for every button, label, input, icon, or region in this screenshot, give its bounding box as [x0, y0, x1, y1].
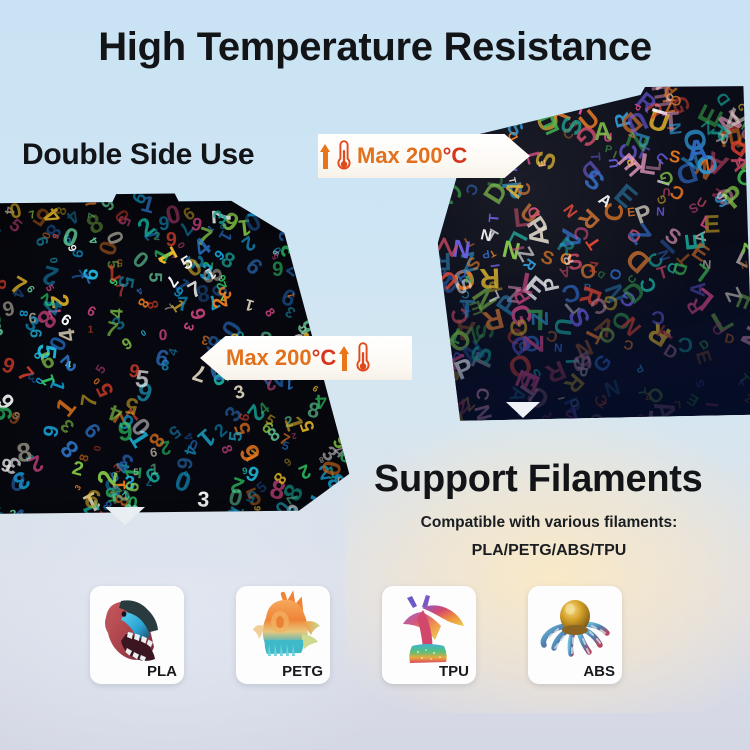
- badge-top-text: Max 200°C: [357, 143, 467, 169]
- filament-card-label: ABS: [583, 663, 615, 680]
- support-filaments-title: Support Filaments: [374, 458, 702, 501]
- filament-card-abs[interactable]: ABS: [528, 586, 622, 684]
- thermometer-icon: [334, 138, 354, 174]
- filament-card-pla[interactable]: PLA: [90, 586, 184, 684]
- filament-card-label: TPU: [439, 663, 469, 680]
- max-temperature-badge-top: Max 200°C: [318, 134, 530, 178]
- badge-bottom-text: Max 200°C: [226, 345, 336, 371]
- numbers-plate-notch: [101, 505, 149, 527]
- filament-card-label: PETG: [282, 663, 323, 680]
- filament-types-subtitle: PLA/PETG/ABS/TPU: [374, 542, 724, 560]
- arrow-up-icon: [339, 346, 350, 371]
- arrow-up-icon: [320, 144, 331, 169]
- filament-card-list: PLA PETG: [90, 586, 660, 686]
- thermometer-icon: [353, 340, 373, 376]
- max-temperature-badge-bottom: Max 200°C: [200, 336, 412, 380]
- shark-head-icon: [90, 588, 184, 668]
- double-side-use-label: Double Side Use: [22, 138, 254, 172]
- filament-card-petg[interactable]: PETG: [236, 586, 330, 684]
- compatible-subtitle: Compatible with various filaments:: [374, 514, 724, 532]
- phoenix-bird-icon: [382, 588, 476, 668]
- page-title: High Temperature Resistance: [0, 25, 750, 70]
- letters-plate-notch: [500, 400, 546, 420]
- octopus-icon: [528, 588, 622, 668]
- filament-card-label: PLA: [147, 663, 177, 680]
- filament-card-tpu[interactable]: TPU: [382, 586, 476, 684]
- fish-icon: [236, 588, 330, 668]
